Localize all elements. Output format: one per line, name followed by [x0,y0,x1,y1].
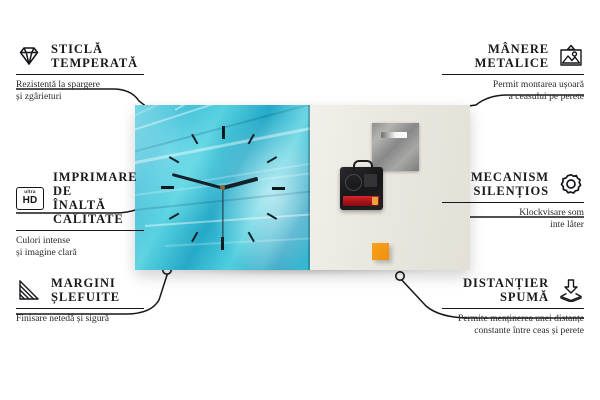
clock-mechanism-part [340,167,383,210]
callout-title-line1: DISTANȚIER [463,276,549,290]
callout-desc-line2: inte låter [442,219,584,231]
callout-desc-line2: și imagine clară [16,247,144,259]
callout-title-line1: MARGINI [51,276,120,290]
clock-second-hand [222,188,223,243]
callout-title-line1: MECANISM [471,170,549,184]
callout-title-line2: SPUMĂ [463,290,549,304]
callout-desc-line1: Finisare netedă și sigură [16,313,144,325]
callout-metal-handles: MÂNERE METALICE Permit montarea ușoară a… [442,42,584,103]
product-photo [135,105,470,270]
callout-rule [442,74,584,75]
callout-title-line2: ÎNALTĂ CALITATE [53,198,144,226]
infographic-canvas: STICLĂ TEMPERATĂ Rezistentă la spargere … [0,0,600,400]
callout-desc-line2: și zgârieturi [16,91,144,103]
foam-spacer-icon [558,278,584,302]
callout-desc-line1: Rezistentă la spargere [16,79,144,91]
callout-title-line2: ȘLEFUITE [51,290,120,304]
callout-title-line2: SILENȚIOS [471,184,549,198]
callout-polished-edges: MARGINI ȘLEFUITE Finisare netedă și sigu… [16,276,144,325]
callout-desc-line1: Permit montarea ușoară [442,79,584,91]
callout-desc-line2: a ceasului pe perete [442,91,584,103]
callout-rule [16,230,144,231]
callout-rule [16,74,144,75]
callout-title-line2: METALICE [475,56,549,70]
picture-frame-icon [558,44,584,68]
gear-icon [558,172,584,196]
metal-hanger-part [372,123,419,171]
callout-title-line1: MÂNERE [475,42,549,56]
callout-rule [442,202,584,203]
clock-front-face [135,105,310,270]
callout-desc-line2: constante între ceas și perete [442,325,584,337]
callout-desc-line1: Culori intense [16,235,144,247]
callout-foam-spacer: DISTANȚIER SPUMĂ Permite menținerea unei… [442,276,584,337]
callout-desc-line1: Permite menținerea unei distanțe [442,313,584,325]
callout-title-line2: TEMPERATĂ [51,56,138,70]
callout-tempered-glass: STICLĂ TEMPERATĂ Rezistentă la spargere … [16,42,144,103]
ultra-hd-badge-icon: ultra HD [16,187,44,210]
callout-hd-print: ultra HD IMPRIMARE DE ÎNALTĂ CALITATE Cu… [16,170,144,259]
battery-part [343,196,379,206]
beveled-edge-icon [16,278,42,302]
diamond-icon [16,44,42,68]
callout-desc-line1: Klockvisare som [442,207,584,219]
foam-spacer-part [372,243,389,260]
callout-rule [16,308,144,309]
callout-rule [442,308,584,309]
callout-title-line1: STICLĂ [51,42,138,56]
callout-silent-mechanism: MECANISM SILENȚIOS Klockvisare som inte … [442,170,584,231]
clock-center-cap [220,185,225,190]
badge-main-label: HD [23,196,38,206]
callout-title-line1: IMPRIMARE DE [53,170,144,198]
